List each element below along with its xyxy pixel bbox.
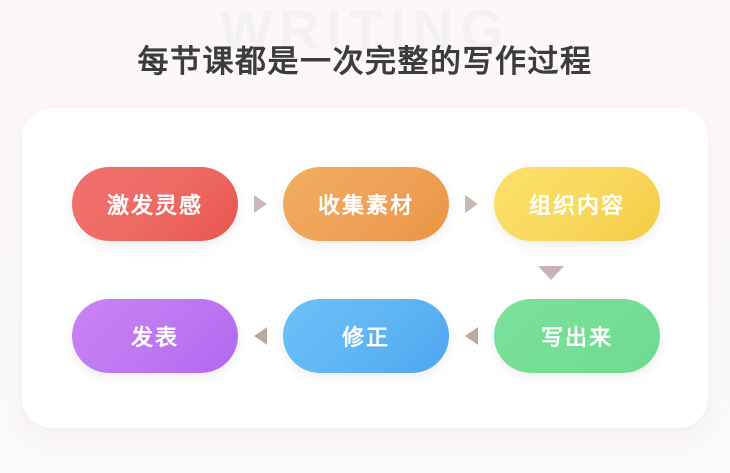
flow-step-revise[interactable]: 修正 [283,299,449,373]
arrow-left-icon [254,327,267,345]
connector-4 [449,327,494,345]
flow-step-label: 激发灵感 [107,188,203,220]
arrow-right-icon [254,195,267,213]
flow-step-label: 发表 [131,320,179,352]
arrow-left-icon [465,327,478,345]
page-title: 每节课都是一次完整的写作过程 [0,41,730,83]
flow-step-label: 组织内容 [529,188,625,220]
flow-row-bottom: 发表 修正 写出来 [72,298,660,374]
flow-step-label: 写出来 [541,320,613,352]
flow-step-inspiration[interactable]: 激发灵感 [72,167,238,241]
flow-step-publish[interactable]: 发表 [72,299,238,373]
arrow-right-icon [465,195,478,213]
flow-step-label: 修正 [342,320,390,352]
flow-step-organize-content[interactable]: 组织内容 [494,167,660,241]
flow-card: 激发灵感 收集素材 组织内容 发表 修正 [22,108,708,428]
flow-row-top: 激发灵感 收集素材 组织内容 [72,166,660,242]
header: WRITING 每节课都是一次完整的写作过程 [0,0,730,108]
connector-3 [238,327,283,345]
arrow-down-icon [538,266,564,280]
connector-2 [449,195,494,213]
flow-step-write-it-out[interactable]: 写出来 [494,299,660,373]
connector-vertical [22,260,708,294]
connector-1 [238,195,283,213]
flow-step-label: 收集素材 [318,188,414,220]
flow-step-gather-material[interactable]: 收集素材 [283,167,449,241]
